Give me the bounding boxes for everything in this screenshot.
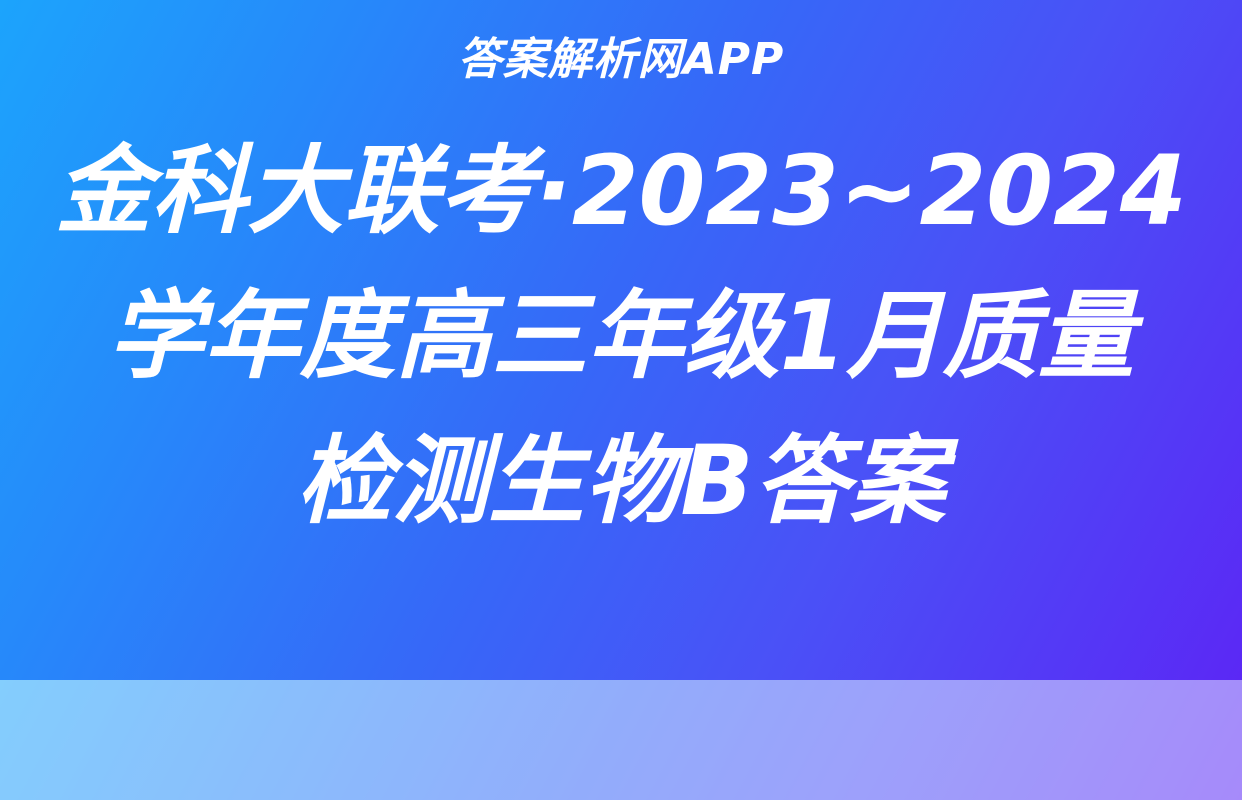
answer-cover-card: 金科大联考·2023~2024 学年度高三年级1月质量 检测生物B答案 答案解析…: [0, 0, 1242, 800]
app-brand-label: 答案解析网APP: [458, 34, 785, 86]
title-line-3: 检测生物B答案: [296, 409, 945, 554]
title-line-2: 学年度高三年级1月质量: [108, 264, 1135, 409]
footer-band: [0, 680, 1242, 800]
footer-brand-area: 答案解析网APP: [0, 0, 1242, 120]
title-line-1: 金科大联考·2023~2024: [55, 119, 1186, 264]
